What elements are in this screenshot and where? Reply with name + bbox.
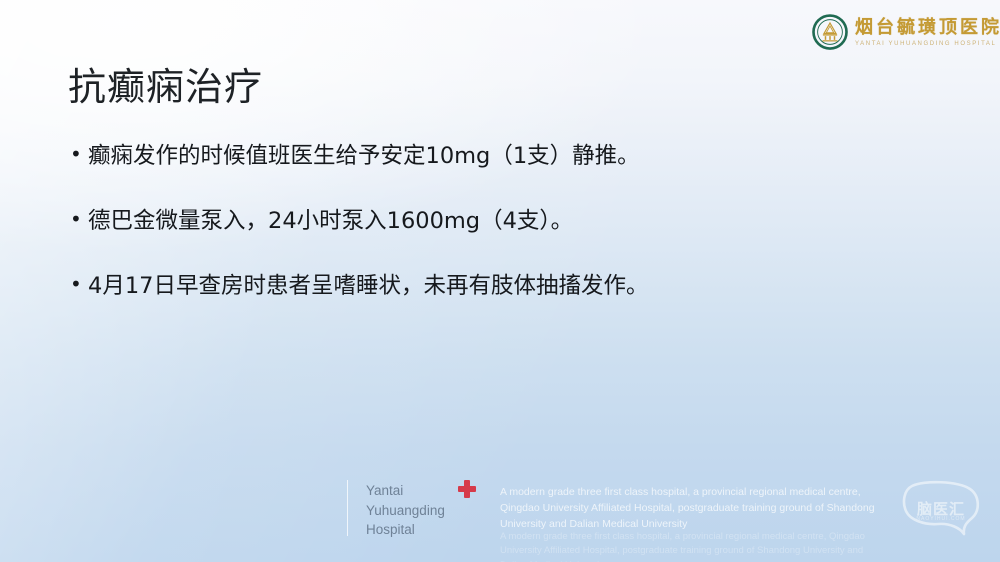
list-item: • 4月17日早查房时患者呈嗜睡状，未再有肢体抽搐发作。 — [70, 272, 940, 300]
hospital-seal-icon — [812, 14, 848, 50]
hospital-name-en: YANTAI YUHUANGDING HOSPITAL — [855, 41, 1000, 47]
footer-description-secondary: A modern grade three first class hospita… — [500, 530, 880, 562]
slide-title: 抗癫痫治疗 — [68, 56, 263, 111]
footer-divider — [347, 480, 348, 536]
watermark: 脑医汇 NAOYIHUI.COM — [898, 478, 984, 542]
bullet-list: • 癫痫发作的时候值班医生给予安定10mg（1支）静推。 • 德巴金微量泵入，2… — [70, 142, 940, 337]
hospital-logo: 烟台毓璜顶医院 YANTAI YUHUANGDING HOSPITAL — [812, 14, 1000, 50]
bullet-text: 4月17日早查房时患者呈嗜睡状，未再有肢体抽搐发作。 — [88, 272, 940, 300]
list-item: • 癫痫发作的时候值班医生给予安定10mg（1支）静推。 — [70, 142, 940, 170]
bullet-text: 德巴金微量泵入，24小时泵入1600mg（4支）。 — [88, 207, 940, 235]
footer-brand-line-3: Hospital — [366, 520, 445, 540]
footer-brand-line-2: Yuhuangding — [366, 501, 445, 521]
watermark-sublabel: NAOYIHUI.COM — [898, 516, 984, 522]
slide-footer: Yantai Yuhuangding Hospital A modern gra… — [0, 472, 1000, 562]
hospital-name-cn: 烟台毓璜顶医院 — [855, 19, 1000, 37]
list-item: • 德巴金微量泵入，24小时泵入1600mg（4支）。 — [70, 207, 940, 235]
bullet-text: 癫痫发作的时候值班医生给予安定10mg（1支）静推。 — [88, 142, 940, 170]
bullet-marker-icon: • — [70, 207, 88, 232]
footer-brand-name: Yantai Yuhuangding Hospital — [366, 481, 445, 540]
hospital-logo-text: 烟台毓璜顶医院 YANTAI YUHUANGDING HOSPITAL — [855, 17, 1000, 47]
medical-cross-icon — [458, 480, 476, 498]
bullet-marker-icon: • — [70, 142, 88, 167]
footer-description: A modern grade three first class hospita… — [500, 485, 900, 533]
bullet-marker-icon: • — [70, 272, 88, 297]
presentation-slide: 烟台毓璜顶医院 YANTAI YUHUANGDING HOSPITAL 抗癫痫治… — [0, 0, 1000, 562]
footer-brand-line-1: Yantai — [366, 481, 445, 501]
